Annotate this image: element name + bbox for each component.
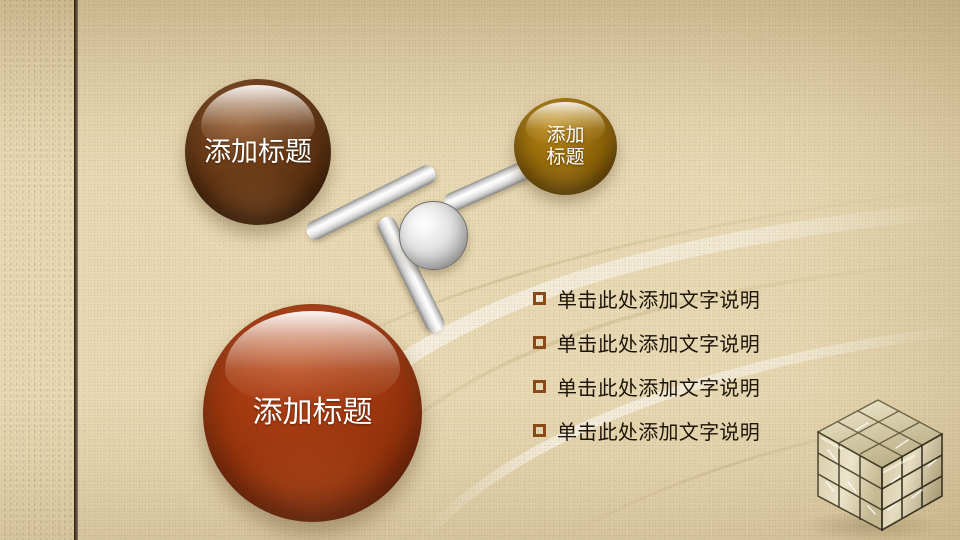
left-accent-band — [0, 0, 77, 540]
square-bullet-icon — [533, 380, 546, 393]
node-gold-sphere[interactable]: 添加 标题 — [514, 98, 617, 195]
node-rust-sphere[interactable]: 添加标题 — [203, 304, 422, 522]
list-item-label: 单击此处添加文字说明 — [557, 284, 760, 313]
list-item[interactable]: 单击此处添加文字说明 — [533, 364, 843, 408]
list-item[interactable]: 单击此处添加文字说明 — [533, 408, 843, 452]
left-band-grain — [0, 0, 77, 540]
slide-canvas: 添加标题 添加 标题 添加标题 — [0, 0, 960, 540]
list-item[interactable]: 单击此处添加文字说明 — [533, 320, 843, 364]
molecule-hub-sphere[interactable] — [399, 201, 468, 270]
node-rust-label: 添加标题 — [203, 304, 422, 522]
list-item-label: 单击此处添加文字说明 — [557, 328, 760, 357]
node-brown-sphere[interactable]: 添加标题 — [185, 79, 331, 225]
bullet-list: 单击此处添加文字说明 单击此处添加文字说明 单击此处添加文字说明 单击此处添加文… — [533, 276, 843, 452]
node-brown-label: 添加标题 — [185, 79, 331, 225]
node-gold-label: 添加 标题 — [514, 98, 617, 195]
square-bullet-icon — [533, 424, 546, 437]
list-item[interactable]: 单击此处添加文字说明 — [533, 276, 843, 320]
left-band-edge — [74, 0, 78, 540]
list-item-label: 单击此处添加文字说明 — [557, 372, 760, 401]
square-bullet-icon — [533, 336, 546, 349]
square-bullet-icon — [533, 292, 546, 305]
list-item-label: 单击此处添加文字说明 — [557, 416, 760, 445]
